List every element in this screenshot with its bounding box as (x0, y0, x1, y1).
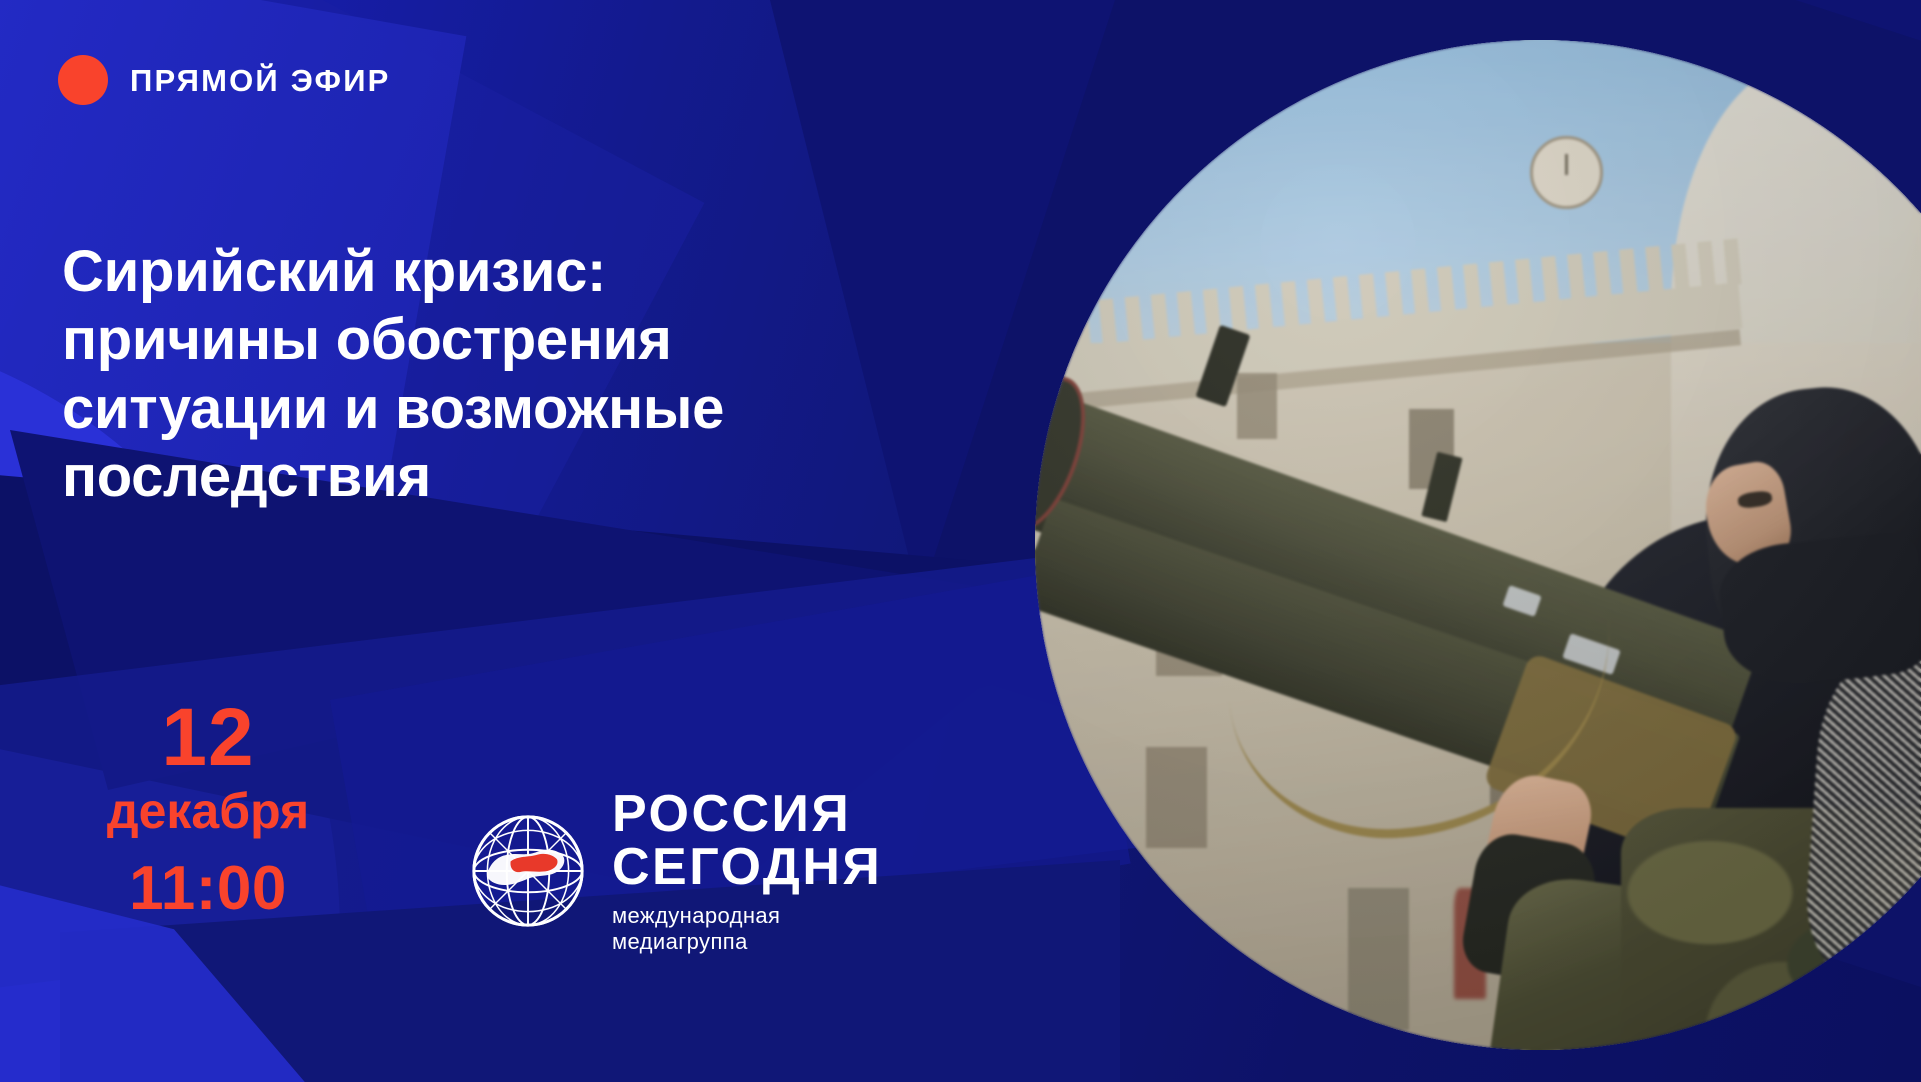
globe-icon (470, 813, 586, 929)
photo-window (1146, 747, 1207, 848)
photo-window (1237, 373, 1277, 439)
brand-logo: РОССИЯ СЕГОДНЯ международная медиагруппа (470, 788, 882, 955)
photo-doorway (1348, 888, 1409, 1029)
page-title: Сирийский кризис: причины обострения сит… (62, 238, 1072, 512)
headline-line-1: Сирийский кризис: (62, 238, 1072, 306)
photo-clock-face (1530, 136, 1603, 209)
event-day: 12 (78, 700, 338, 775)
broadcast-announcement-poster: ПРЯМОЙ ЭФИР Сирийский кризис: причины об… (0, 0, 1921, 1082)
event-month: декабря (78, 775, 338, 848)
brand-tagline: международная медиагруппа (612, 903, 882, 954)
headline-line-3: ситуации и возможные (62, 375, 1072, 443)
brand-text-block: РОССИЯ СЕГОДНЯ международная медиагруппа (612, 788, 882, 955)
event-datetime: 12 декабря 11:00 (78, 700, 338, 930)
live-badge: ПРЯМОЙ ЭФИР (58, 55, 391, 105)
headline-line-2: причины обострения (62, 306, 1072, 374)
brand-tagline-line-2: медиагруппа (612, 929, 882, 955)
news-photo-content (1035, 40, 1921, 1050)
live-dot-icon (58, 55, 108, 105)
brand-name-line-1: РОССИЯ (612, 788, 882, 841)
news-photo-circle (1035, 40, 1921, 1050)
live-badge-label: ПРЯМОЙ ЭФИР (130, 65, 391, 96)
event-time: 11:00 (78, 848, 338, 930)
brand-tagline-line-1: международная (612, 903, 882, 929)
brand-name-line-2: СЕГОДНЯ (612, 841, 882, 894)
headline-line-4: последствия (62, 443, 1072, 511)
